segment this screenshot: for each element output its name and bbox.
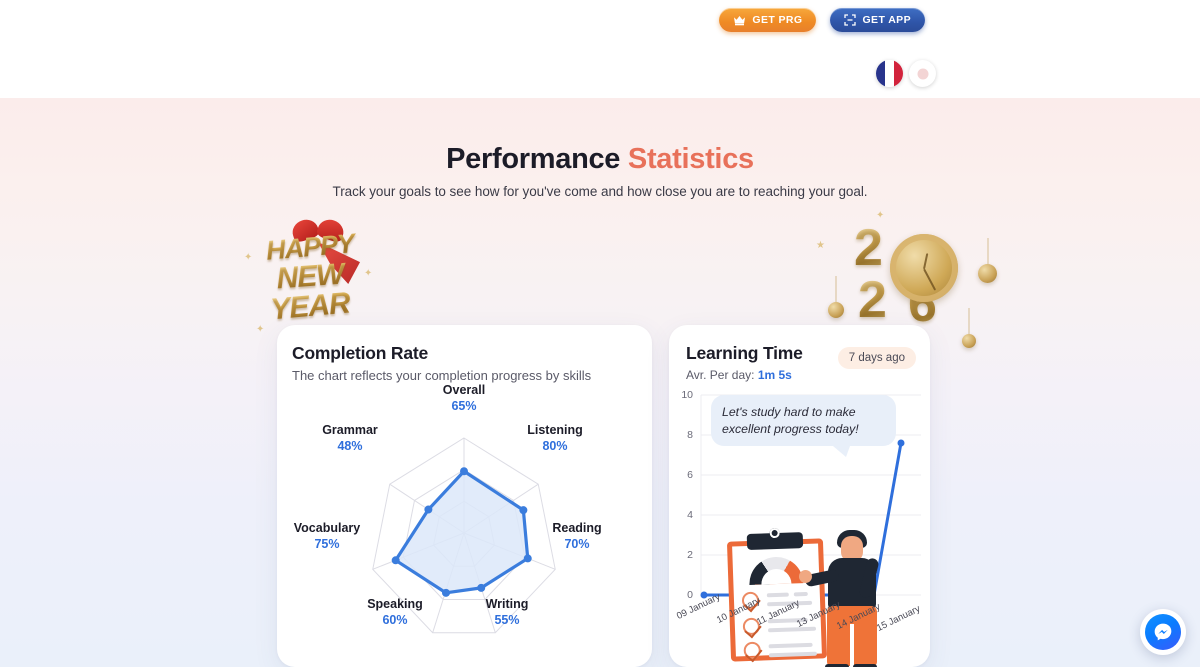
- y-tick-10: 10: [673, 389, 693, 401]
- ornament-ball-icon: [828, 302, 844, 318]
- clipboard-line: [769, 643, 813, 649]
- radar-label-value: 70%: [522, 537, 632, 551]
- page-body: Performance Statistics Track your goals …: [0, 98, 1200, 667]
- get-app-label: GET APP: [862, 14, 911, 26]
- ornament-ball-icon: [962, 334, 976, 348]
- hny-line-3: YEAR: [239, 284, 381, 330]
- chart-point: [898, 440, 905, 447]
- ribbon-icon: [318, 242, 360, 284]
- year-digit-3: 6: [908, 278, 937, 330]
- learning-time-card: Learning Time Avr. Per day: 1m 5s 7 days…: [669, 325, 930, 667]
- radar-label-speaking: Speaking 60%: [340, 597, 450, 627]
- crown-icon: [733, 15, 746, 26]
- sparkle-icon: ★: [816, 240, 825, 251]
- top-bar: GET PRG GET APP: [0, 0, 1200, 98]
- french-flag[interactable]: [876, 60, 903, 87]
- year-digit-2: 2: [858, 274, 887, 326]
- sparkle-icon: ✦: [876, 210, 884, 221]
- messenger-icon: [1145, 614, 1181, 650]
- flag-band-red: [894, 60, 903, 87]
- sparkle-icon: ✦: [364, 268, 372, 279]
- get-pro-button[interactable]: GET PRG: [719, 8, 816, 32]
- year-digit-1: 2: [854, 222, 883, 274]
- clipboard-line: [794, 592, 808, 596]
- radar-label-name: Overall: [409, 383, 519, 397]
- get-app-button[interactable]: GET APP: [830, 8, 925, 32]
- y-tick-4: 4: [673, 509, 693, 521]
- flag-band-blue: [876, 60, 885, 87]
- sparkle-icon: ✦: [244, 252, 252, 263]
- language-switcher: [876, 60, 936, 87]
- radar-label-vocabulary: Vocabulary 75%: [272, 521, 382, 551]
- radar-label-value: 48%: [295, 439, 405, 453]
- clock-icon: [890, 234, 958, 302]
- clipboard-line: [769, 652, 817, 658]
- y-tick-8: 8: [673, 429, 693, 441]
- sparkle-icon: ✦: [256, 324, 264, 335]
- radar-label-writing: Writing 55%: [452, 597, 562, 627]
- bow-icon: [292, 220, 344, 246]
- clipboard-icon: [727, 538, 827, 661]
- hny-line-1: HAPPY: [239, 226, 381, 269]
- days-ago-badge[interactable]: 7 days ago: [838, 347, 916, 369]
- radar-label-reading: Reading 70%: [522, 521, 632, 551]
- radar-label-overall: Overall 65%: [409, 383, 519, 413]
- app-frame-icon: [844, 14, 856, 26]
- page-title-accent: Statistics: [628, 143, 754, 175]
- radar-label-value: 60%: [340, 613, 450, 627]
- checkmark-icon: [743, 642, 761, 660]
- hny-line-2: NEW: [239, 255, 381, 299]
- y-tick-0: 0: [673, 589, 693, 601]
- clipboard-clip-icon: [747, 532, 804, 550]
- flag-dot: [917, 68, 928, 79]
- radar-label-name: Vocabulary: [272, 521, 382, 535]
- radar-label-value: 75%: [272, 537, 382, 551]
- radar-label-name: Writing: [452, 597, 562, 611]
- y-tick-2: 2: [673, 549, 693, 561]
- radar-label-name: Listening: [500, 423, 610, 437]
- radar-label-name: Grammar: [295, 423, 405, 437]
- gauge-icon: [749, 556, 804, 585]
- radar-chart: Overall 65% Listening 80% Reading 70% Wr…: [277, 373, 652, 667]
- completion-title: Completion Rate: [292, 343, 652, 364]
- person-hand: [799, 570, 812, 583]
- messenger-chat-button[interactable]: [1140, 609, 1186, 655]
- ornament-ball-icon: [978, 264, 997, 283]
- radar-label-listening: Listening 80%: [500, 423, 610, 453]
- japanese-flag[interactable]: [909, 60, 936, 87]
- radar-label-value: 80%: [500, 439, 610, 453]
- clock-hand-hour: [923, 253, 928, 269]
- learning-card-header: Learning Time Avr. Per day: 1m 5s 7 days…: [669, 325, 930, 382]
- learning-time-chart: 10 8 6 4 2 0: [669, 380, 930, 667]
- radar-label-name: Speaking: [340, 597, 450, 611]
- radar-label-name: Reading: [522, 521, 632, 535]
- page-title: Performance Statistics: [0, 144, 1200, 176]
- radar-label-value: 65%: [409, 399, 519, 413]
- flag-band-white: [885, 60, 894, 87]
- topbar-actions: GET PRG GET APP: [719, 8, 925, 32]
- radar-label-value: 55%: [452, 613, 562, 627]
- page-subtitle: Track your goals to see how for you've c…: [0, 184, 1200, 199]
- hero-header: Performance Statistics Track your goals …: [0, 144, 1200, 199]
- clock-hand-minute: [923, 269, 936, 291]
- clipboard-line: [767, 593, 789, 598]
- y-tick-6: 6: [673, 469, 693, 481]
- radar-label-grammar: Grammar 48%: [295, 423, 405, 453]
- completion-rate-card: Completion Rate The chart reflects your …: [277, 325, 652, 667]
- page-title-main: Performance: [446, 143, 620, 175]
- messenger-bubble-icon: [1153, 622, 1173, 642]
- clipboard-line: [768, 627, 816, 633]
- get-pro-label: GET PRG: [752, 14, 802, 26]
- study-speech-bubble: Let's study hard to make excellent progr…: [711, 395, 896, 446]
